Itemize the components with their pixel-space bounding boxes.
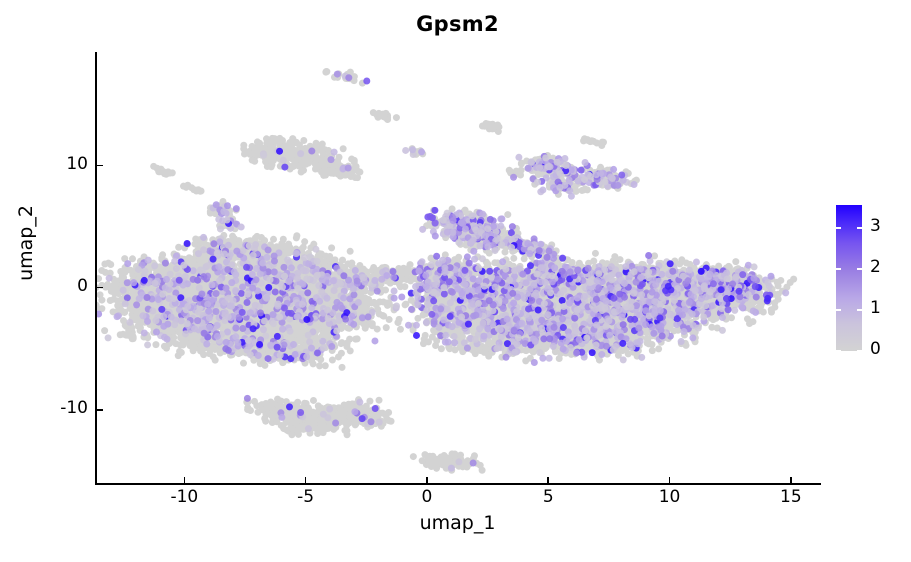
colorbar-tick-mark [836, 268, 862, 270]
plot-axes-area [95, 52, 820, 484]
colorbar-tick-label: 0 [870, 341, 881, 358]
x-tick-mark [790, 477, 792, 483]
y-tick-mark [97, 165, 103, 167]
colorbar-tick-mark [836, 227, 862, 229]
colorbar-legend: 0123 [836, 205, 908, 351]
y-tick-mark [97, 409, 103, 411]
x-tick-mark [305, 477, 307, 483]
colorbar-tick-mark [836, 350, 862, 352]
x-axis-label: umap_1 [95, 512, 820, 534]
y-tick-label: 10 [28, 155, 88, 175]
colorbar-tick-label: 2 [870, 259, 881, 276]
colorbar-tick-label: 3 [870, 218, 881, 235]
page-title: Gpsm2 [95, 14, 820, 35]
y-axis-spine [95, 52, 97, 485]
umap-feature-plot-figure: Gpsm2 -10-5051015 -10010 umap_1 umap_2 0… [0, 0, 911, 562]
x-axis-spine [95, 483, 821, 485]
y-tick-label: -10 [28, 399, 88, 419]
x-tick-mark [547, 477, 549, 483]
x-tick-label: 15 [761, 488, 821, 508]
y-tick-label: 0 [28, 277, 88, 297]
x-tick-mark [426, 477, 428, 483]
y-tick-mark [97, 287, 103, 289]
x-tick-label: 10 [640, 488, 700, 508]
scatter-plot-canvas [97, 52, 820, 483]
colorbar-tick-label: 1 [870, 300, 881, 317]
x-tick-mark [184, 477, 186, 483]
x-tick-label: 0 [397, 488, 457, 508]
x-tick-label: 5 [518, 488, 578, 508]
x-tick-mark [669, 477, 671, 483]
colorbar-tick-mark [836, 309, 862, 311]
x-tick-label: -5 [276, 488, 336, 508]
x-tick-label: -10 [154, 488, 214, 508]
y-axis-label: umap_2 [15, 153, 37, 333]
